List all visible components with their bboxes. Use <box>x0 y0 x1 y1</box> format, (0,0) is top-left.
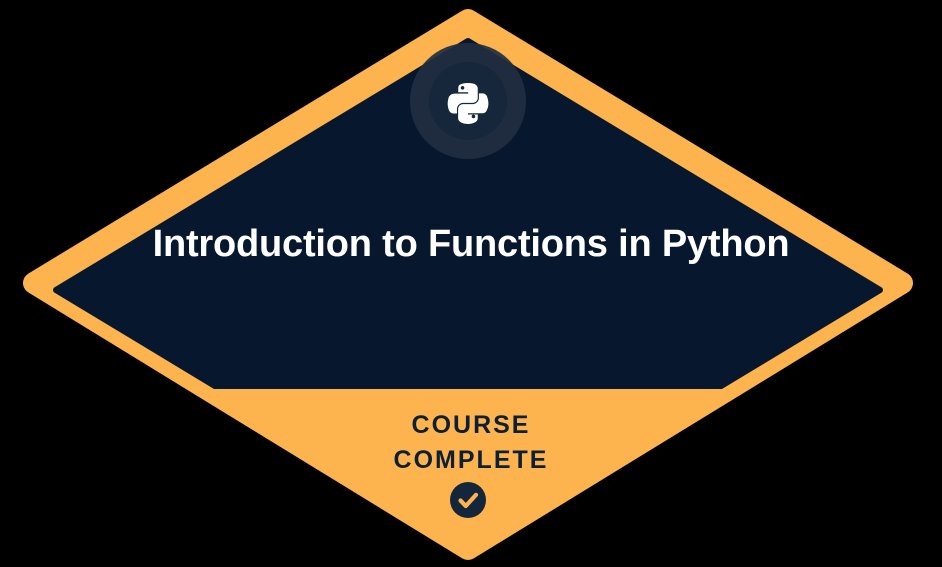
badge-container: Introduction to Functions in Python COUR… <box>0 0 942 567</box>
badge-graphic <box>0 0 942 567</box>
check-circle-icon <box>450 482 486 518</box>
